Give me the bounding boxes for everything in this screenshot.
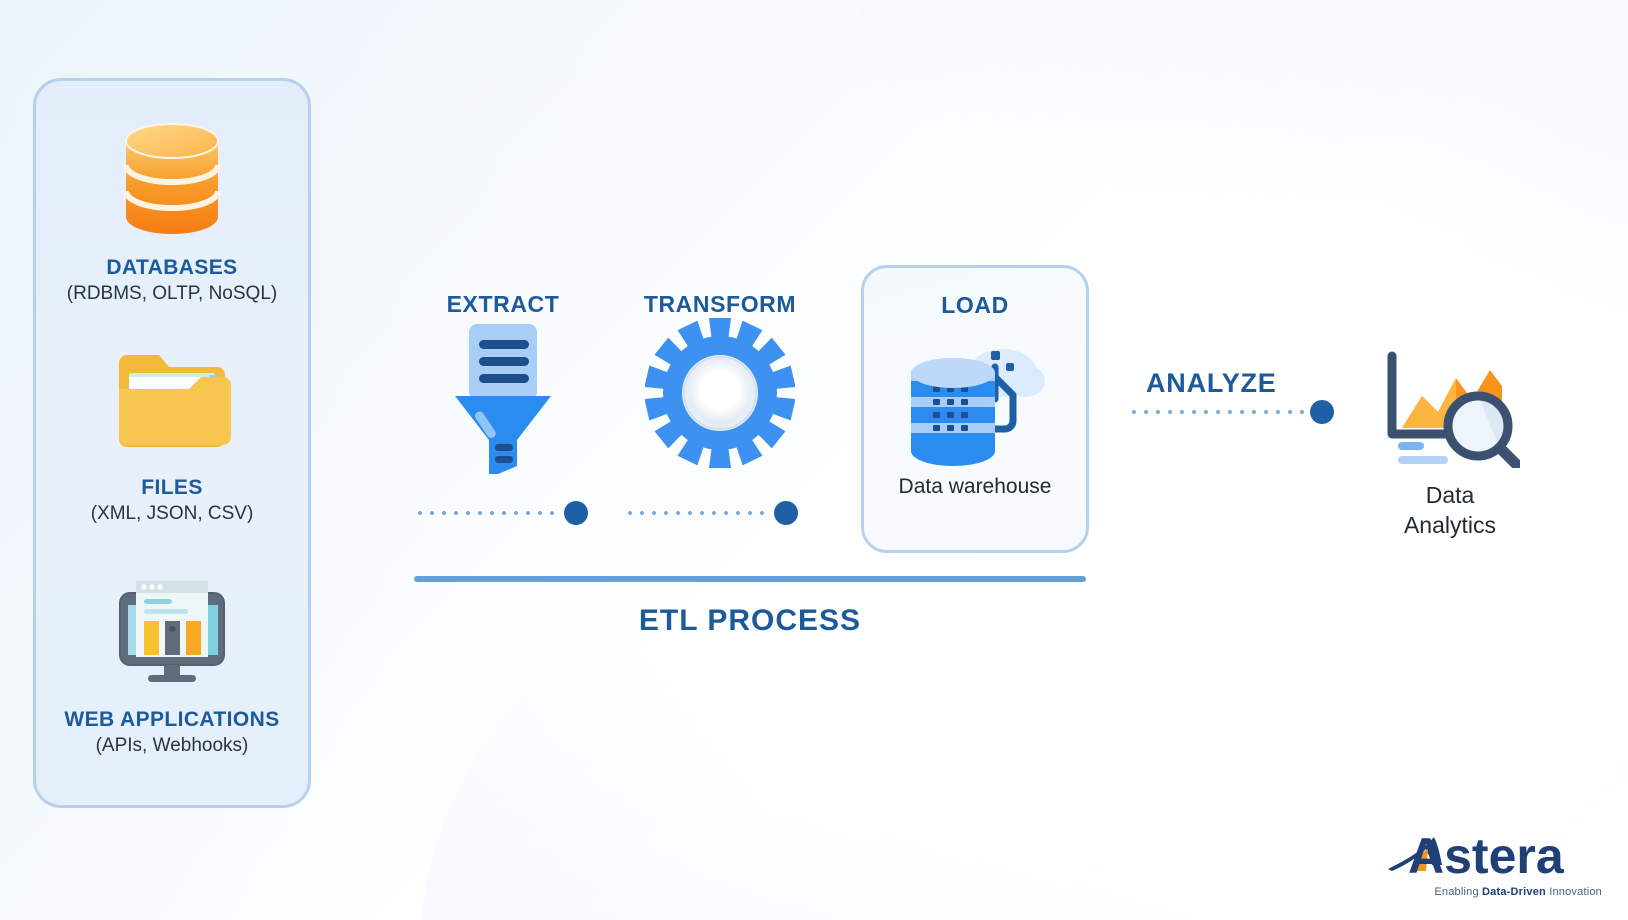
analytics-caption-line2: Analytics — [1360, 511, 1540, 541]
analytics-caption-line1: Data — [1360, 481, 1540, 511]
connector-end-dot — [564, 501, 588, 525]
gear-icon — [616, 318, 824, 468]
astera-logo: Astera Enabling Data-Driven Innovation — [1382, 825, 1604, 898]
document-funnel-icon — [414, 318, 592, 474]
etl-process-rule — [414, 576, 1086, 582]
data-sources-panel: DATABASES (RDBMS, OLTP, NoSQL) — [33, 78, 311, 808]
chart-magnifier-icon — [1380, 455, 1520, 472]
source-subtitle: (RDBMS, OLTP, NoSQL) — [67, 283, 277, 305]
connector-extract-to-transform — [414, 501, 588, 525]
astera-wordmark-icon: Astera — [1382, 825, 1604, 883]
source-item-databases: DATABASES (RDBMS, OLTP, NoSQL) — [36, 123, 308, 305]
source-subtitle: (APIs, Webhooks) — [96, 735, 249, 757]
connector-end-dot — [1310, 400, 1334, 424]
connector-load-to-analyze — [1128, 400, 1334, 424]
analyze-section: ANALYZE — [1128, 360, 1548, 560]
stage-label: EXTRACT — [414, 291, 592, 318]
tagline-bold: Data-Driven — [1482, 886, 1546, 898]
stage-label: LOAD — [941, 292, 1009, 319]
etl-process-label: ETL PROCESS — [414, 604, 1086, 638]
database-cylinder-icon — [122, 123, 222, 240]
stage-label: TRANSFORM — [616, 291, 824, 318]
source-title: WEB APPLICATIONS — [64, 708, 279, 732]
etl-stage-transform: TRANSFORM — [616, 291, 824, 468]
astera-tagline: Enabling Data-Driven Innovation — [1382, 886, 1602, 898]
svg-text:Astera: Astera — [1408, 828, 1565, 883]
source-title: DATABASES — [106, 256, 237, 280]
etl-stage-load: LOAD — [861, 265, 1089, 553]
load-caption: Data warehouse — [899, 475, 1052, 499]
data-warehouse-cloud-icon — [895, 323, 1055, 473]
tagline-suffix: Innovation — [1546, 886, 1602, 898]
dotted-line — [624, 510, 770, 516]
connector-end-dot — [774, 501, 798, 525]
source-subtitle: (XML, JSON, CSV) — [91, 503, 254, 525]
dotted-line — [414, 510, 560, 516]
analytics-caption: Data Analytics — [1360, 481, 1540, 541]
web-application-monitor-icon — [106, 569, 238, 692]
source-item-files: FILES (XML, JSON, CSV) — [36, 349, 308, 525]
data-analytics-block: Data Analytics — [1360, 350, 1540, 541]
analyze-label: ANALYZE — [1146, 368, 1277, 399]
connector-transform-to-load — [624, 501, 798, 525]
source-title: FILES — [141, 476, 203, 500]
etl-section: EXTRACT TRANSFORM — [414, 265, 1090, 660]
folder-icon — [113, 349, 231, 460]
source-item-web-applications: WEB APPLICATIONS (APIs, Webhooks) — [36, 569, 308, 757]
etl-stage-extract: EXTRACT — [414, 291, 592, 474]
diagram-canvas: DATABASES (RDBMS, OLTP, NoSQL) — [0, 0, 1628, 920]
dotted-line — [1128, 409, 1306, 415]
tagline-prefix: Enabling — [1434, 886, 1482, 898]
